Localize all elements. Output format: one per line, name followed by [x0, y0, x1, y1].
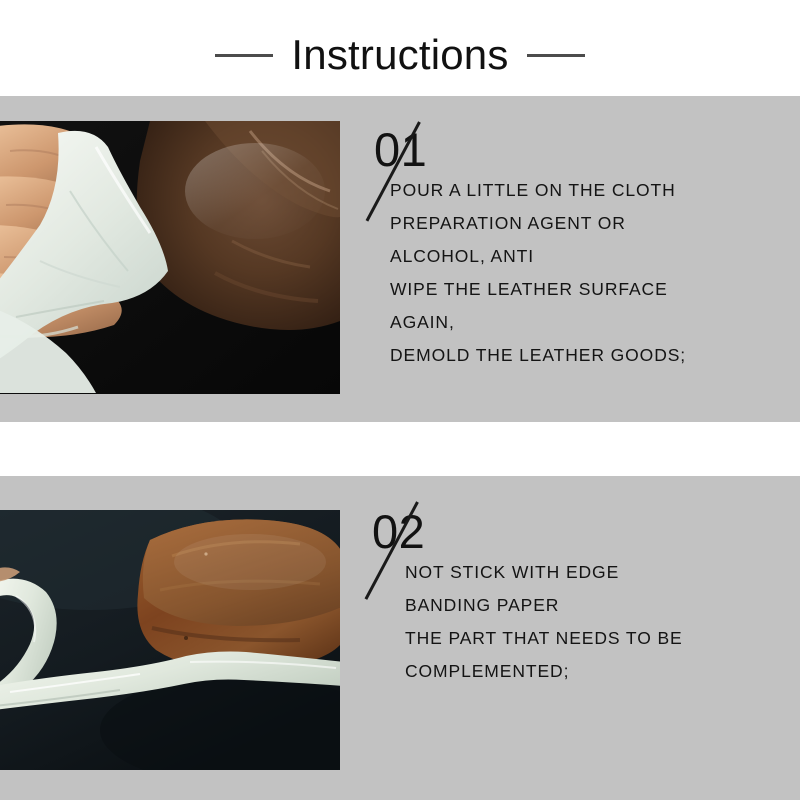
- step-text-block-1: POUR A LITTLE ON THE CLOTH PREPARATION A…: [390, 174, 686, 372]
- step-text-line: AGAIN,: [390, 306, 686, 339]
- step-text-line: WIPE THE LEATHER SURFACE: [390, 273, 686, 306]
- step-content-2: 02 NOT STICK WITH EDGE BANDING PAPER THE…: [340, 476, 800, 800]
- step-text-line: NOT STICK WITH EDGE: [405, 556, 683, 589]
- title-row: Instructions: [215, 34, 584, 76]
- edge-banding-photo-illustration: [0, 510, 340, 770]
- step-text-line: COMPLEMENTED;: [405, 655, 683, 688]
- title-right-rule-icon: [527, 54, 585, 57]
- step-photo-2: [0, 510, 340, 770]
- page-title: Instructions: [291, 34, 508, 76]
- step-content-1: 01 POUR A LITTLE ON THE CLOTH PREPARATIO…: [340, 96, 800, 422]
- instruction-step-panel-1: 01 POUR A LITTLE ON THE CLOTH PREPARATIO…: [0, 96, 800, 422]
- step-text-line: THE PART THAT NEEDS TO BE: [405, 622, 683, 655]
- step-text-line: DEMOLD THE LEATHER GOODS;: [390, 339, 686, 372]
- step-number-1: 01: [374, 126, 427, 173]
- leather-wipe-photo-illustration: [0, 121, 340, 394]
- instruction-step-panel-2: 02 NOT STICK WITH EDGE BANDING PAPER THE…: [0, 476, 800, 800]
- step-text-line: ALCOHOL, ANTI: [390, 240, 686, 273]
- title-left-rule-icon: [215, 54, 273, 57]
- step-text-line: PREPARATION AGENT OR: [390, 207, 686, 240]
- page-header: Instructions: [0, 0, 800, 96]
- step-photo-1: [0, 121, 340, 394]
- step-text-line: BANDING PAPER: [405, 589, 683, 622]
- step-text-line: POUR A LITTLE ON THE CLOTH: [390, 174, 686, 207]
- step-text-block-2: NOT STICK WITH EDGE BANDING PAPER THE PA…: [405, 556, 683, 688]
